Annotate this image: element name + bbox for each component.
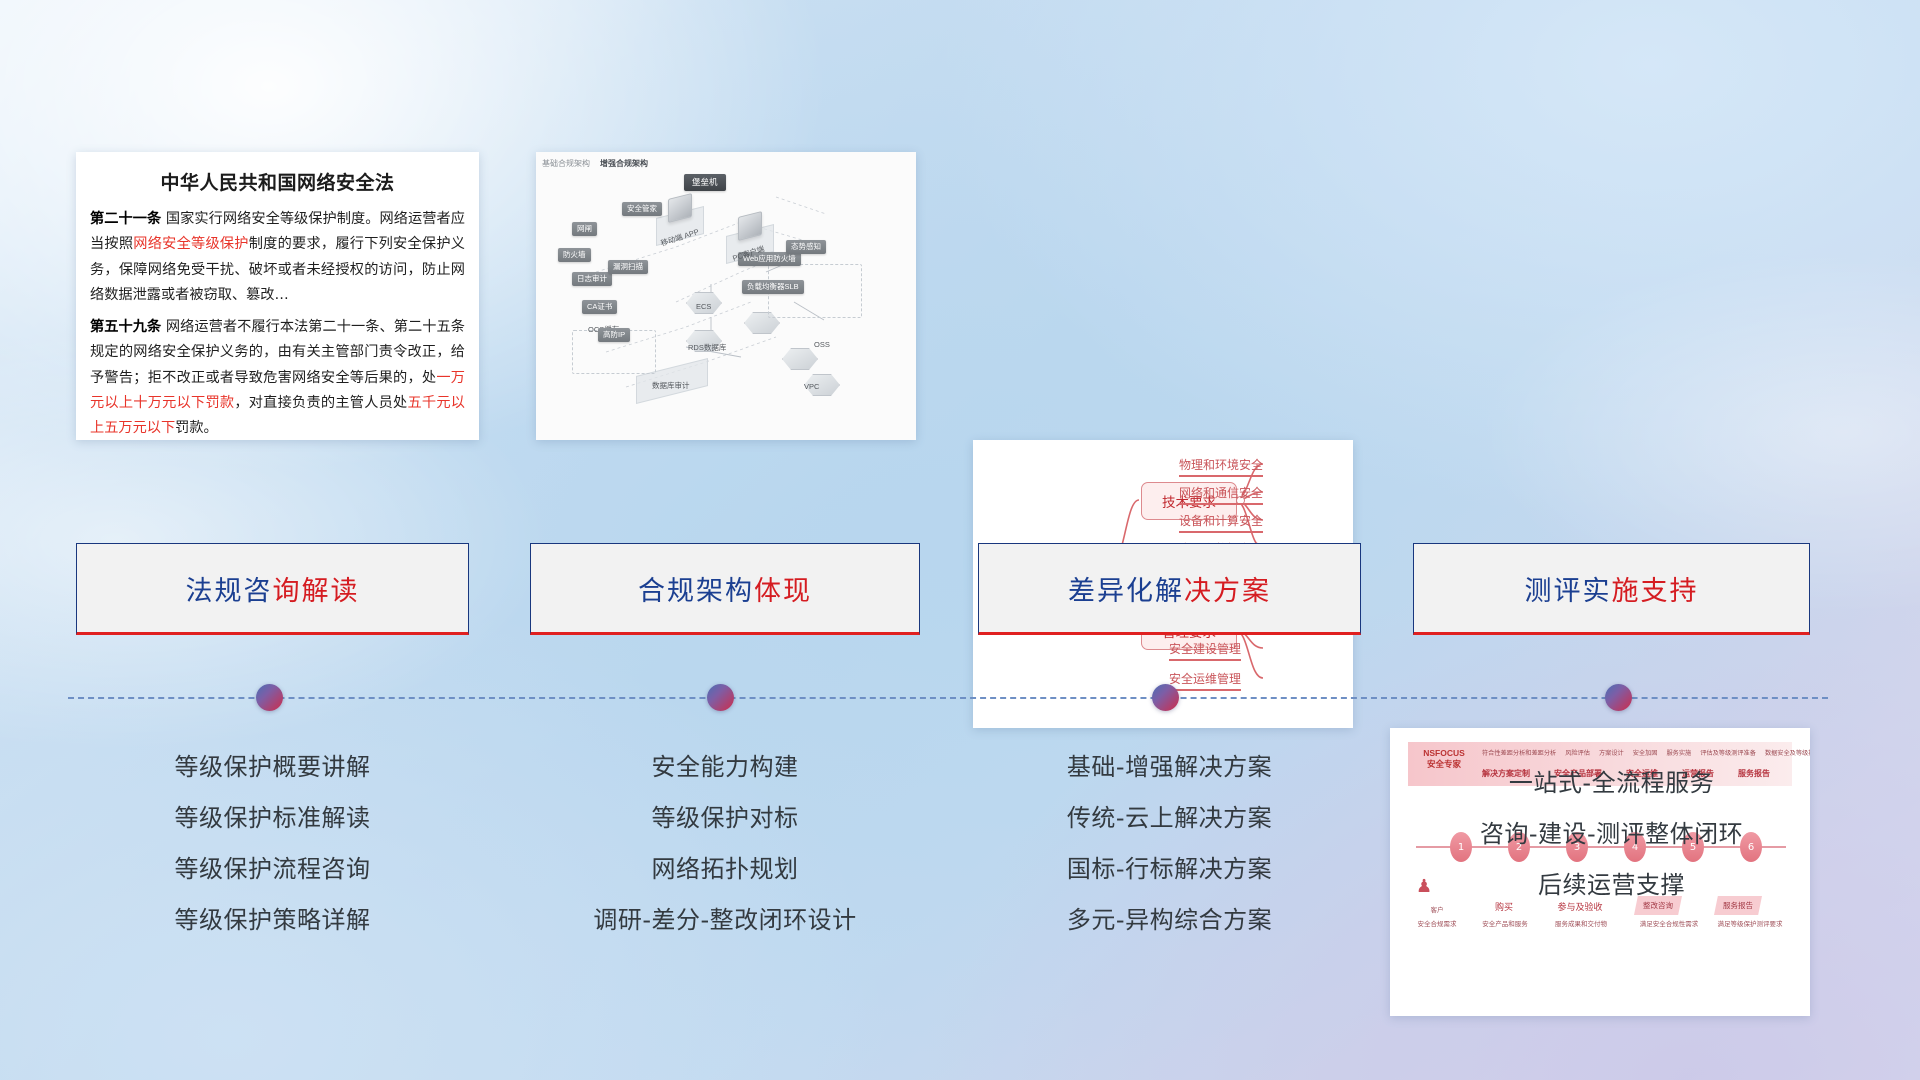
section-titles-row: 法规咨询解读 合规架构体现 差异化解决方案 测评实施支持 [0,543,1920,639]
section-items-3: 基础-增强解决方案 传统-云上解决方案 国标-行标解决方案 多元-异构综合方案 [978,742,1361,946]
architecture-label-db-audit: 数据库审计 [652,380,690,391]
list-item: 等级保护概要讲解 [76,742,469,793]
section-title-4-red: 施支持 [1612,576,1699,607]
architecture-node-vuln-scan: 漏洞扫描 [608,260,648,274]
section-title-4-blue: 测评实 [1525,576,1612,607]
section-title-2-blue: 合规架构 [638,576,754,607]
section-title-2: 合规架构体现 [638,569,812,608]
mindmap-leaf-physical-env: 物理和环境安全 [1179,456,1263,477]
card-compliance-architecture[interactable]: 基础合规架构 增强合规架构 [536,152,916,440]
section-items-2: 安全能力构建 等级保护对标 网络拓扑规划 调研-差分-整改闭环设计 [530,742,920,946]
timeline-dot-4[interactable] [1605,684,1632,711]
architecture-node-firewall: 防火墙 [558,248,591,262]
law-article-21-highlight: 网络安全等级保护 [133,236,248,252]
section-title-1: 法规咨询解读 [186,569,360,608]
section-title-1-red: 询解读 [273,576,360,607]
list-item: 网络拓扑规划 [530,844,920,895]
architecture-node-bastion: 堡垒机 [684,174,726,191]
law-article-59-text-2: ，对直接负责的主管人员处 [234,395,407,411]
list-item: 调研-差分-整改闭环设计 [530,895,920,946]
section-title-2-red: 体现 [754,576,812,607]
architecture-node-situation: 态势感知 [786,240,826,254]
section-title-box-2[interactable]: 合规架构体现 [530,543,920,635]
section-title-3-red: 决方案 [1184,576,1271,607]
list-item: 后续运营支撑 [1413,860,1810,911]
list-item: 等级保护标准解读 [76,793,469,844]
law-article-21-label: 第二十一条 [90,211,161,227]
law-title: 中华人民共和国网络安全法 [90,168,465,195]
list-item: 等级保护流程咨询 [76,844,469,895]
list-item: 咨询-建设-测评整体闭环 [1413,809,1810,860]
law-article-59-label: 第五十九条 [90,319,161,335]
timeline-dot-2[interactable] [707,684,734,711]
law-article-21: 第二十一条 国家实行网络安全等级保护制度。网络运营者应当按照网络安全等级保护制度… [90,207,465,308]
law-article-59-text-3: 罚款。 [175,420,218,436]
list-item: 多元-异构综合方案 [978,895,1361,946]
architecture-node-slb: 负载均衡器SLB [742,280,804,294]
list-item: 安全能力构建 [530,742,920,793]
list-item: 一站式-全流程服务 [1413,758,1810,809]
architecture-label-ecs: ECS [696,302,711,311]
preview-cards-row: 中华人民共和国网络安全法 第二十一条 国家实行网络安全等级保护制度。网络运营者应… [0,152,1920,442]
section-title-3: 差异化解决方案 [1068,569,1271,608]
timeline-dot-1[interactable] [256,684,283,711]
mindmap-leaf-ops-mgmt: 安全运维管理 [1169,670,1241,691]
mindmap-leaf-device-compute: 设备和计算安全 [1179,512,1263,533]
mindmap-leaf-construction-mgmt: 安全建设管理 [1169,640,1241,661]
architecture-label-rds: RDS数据库 [688,342,726,353]
section-title-4: 测评实施支持 [1525,569,1699,608]
section-title-1-blue: 法规咨 [186,576,273,607]
architecture-label-vpc: VPC [804,382,819,391]
timeline-dot-3[interactable] [1152,684,1179,711]
card-cybersecurity-law[interactable]: 中华人民共和国网络安全法 第二十一条 国家实行网络安全等级保护制度。网络运营者应… [76,152,479,440]
list-item: 基础-增强解决方案 [978,742,1361,793]
list-item: 国标-行标解决方案 [978,844,1361,895]
section-title-box-1[interactable]: 法规咨询解读 [76,543,469,635]
section-items-row: 等级保护概要讲解 等级保护标准解读 等级保护流程咨询 等级保护策略详解 安全能力… [0,742,1920,972]
architecture-node-security-manager: 安全管家 [622,202,662,216]
list-item: 等级保护对标 [530,793,920,844]
list-item: 等级保护策略详解 [76,895,469,946]
mindmap-leaf-network-comm: 网络和通信安全 [1179,484,1263,505]
architecture-node-log-audit: 日志审计 [572,272,612,286]
section-title-3-blue: 差异化解 [1068,576,1184,607]
section-items-1: 等级保护概要讲解 等级保护标准解读 等级保护流程咨询 等级保护策略详解 [76,742,469,946]
architecture-node-ca: CA证书 [582,300,617,314]
section-title-box-4[interactable]: 测评实施支持 [1413,543,1810,635]
timeline-dashed-line [68,697,1828,699]
architecture-node-gatekeeper: 网闸 [572,222,597,236]
architecture-node-anti-ddos: 高防IP [598,328,630,342]
list-item: 传统-云上解决方案 [978,793,1361,844]
section-items-4: 一站式-全流程服务 咨询-建设-测评整体闭环 后续运营支撑 [1413,758,1810,911]
architecture-label-oss: OSS [814,340,830,349]
timeline [0,697,1920,727]
law-article-59: 第五十九条 网络运营者不履行本法第二十一条、第二十五条规定的网络安全保护义务的，… [90,315,465,440]
section-title-box-3[interactable]: 差异化解决方案 [978,543,1361,635]
